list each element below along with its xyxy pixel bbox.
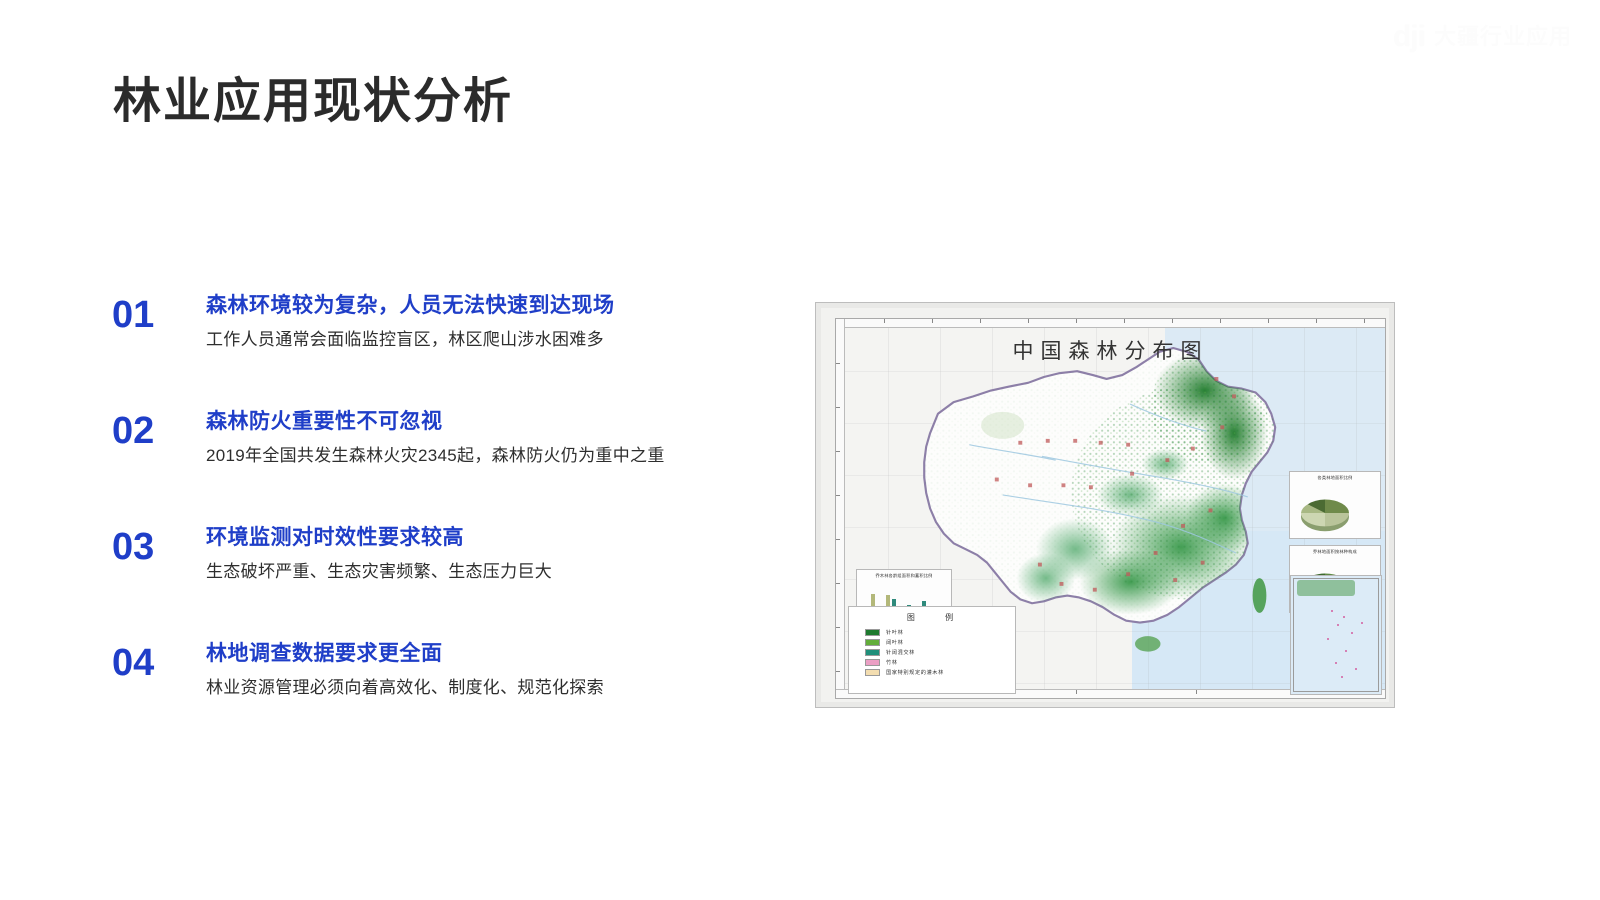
item-heading: 森林环境较为复杂，人员无法快速到达现场 (206, 292, 792, 319)
item-subtext: 工作人员通常会面临监控盲区，林区爬山涉水困难多 (206, 329, 792, 352)
bar-inset-title: 乔木林各龄组面积和蓄积比例 (857, 570, 951, 578)
legend-row: 阔叶林 (849, 637, 1015, 647)
taiwan-island (1253, 578, 1267, 613)
map-ruler-left (836, 319, 845, 698)
item-heading: 环境监测对时效性要求较高 (206, 524, 792, 551)
legend-swatch (865, 649, 880, 656)
points-list: 01 森林环境较为复杂，人员无法快速到达现场 工作人员通常会面临监控盲区，林区爬… (112, 292, 792, 712)
legend-label: 针叶林 (886, 629, 903, 636)
legend-label: 针阔混交林 (886, 649, 915, 656)
map-frame: 中国森林分布图 (835, 318, 1386, 699)
item-subtext: 林业资源管理必须向着高效化、制度化、规范化探索 (206, 677, 792, 700)
item-body: 森林防火重要性不可忽视 2019年全国共发生森林火灾2345起，森林防火仍为重中… (206, 408, 792, 468)
item-number: 02 (112, 412, 188, 450)
item-number: 01 (112, 296, 188, 334)
item-number: 03 (112, 528, 188, 566)
forest-distribution-map: 中国森林分布图 (815, 302, 1395, 708)
item-number: 04 (112, 644, 188, 682)
list-item: 03 环境监测对时效性要求较高 生态破坏严重、生态灾害频繁、生态压力巨大 (112, 524, 792, 596)
item-body: 林地调查数据要求更全面 林业资源管理必须向着高效化、制度化、规范化探索 (206, 640, 792, 700)
map-title: 中国森林分布图 (836, 335, 1385, 365)
legend-swatch (865, 629, 880, 636)
legend-swatch (865, 659, 880, 666)
pie-chart-inset-1: 各类林地面积比例 (1289, 471, 1381, 539)
list-item: 04 林地调查数据要求更全面 林业资源管理必须向着高效化、制度化、规范化探索 (112, 640, 792, 712)
map-ruler-top (836, 319, 1385, 328)
map-inner: 中国森林分布图 (821, 308, 1389, 702)
pie-1 (1296, 488, 1354, 536)
legend-row: 国家特别规定的灌木林 (849, 667, 1015, 677)
scs-mainland-strip (1297, 580, 1355, 596)
item-heading: 森林防火重要性不可忽视 (206, 408, 792, 435)
page-title: 林业应用现状分析 (113, 74, 513, 129)
dji-logo-icon: dji (1393, 22, 1425, 52)
item-subtext: 2019年全国共发生森林火灾2345起，森林防火仍为重中之重 (206, 445, 792, 468)
list-item: 01 森林环境较为复杂，人员无法快速到达现场 工作人员通常会面临监控盲区，林区爬… (112, 292, 792, 364)
legend-label: 阔叶林 (886, 639, 903, 646)
item-subtext: 生态破坏严重、生态灾害频繁、生态压力巨大 (206, 561, 792, 584)
legend-row: 针叶林 (849, 627, 1015, 637)
pie-inset-1-title: 各类林地面积比例 (1290, 472, 1380, 480)
hainan-island (1135, 636, 1160, 651)
south-china-sea-inset (1290, 575, 1382, 695)
legend-swatch (865, 639, 880, 646)
legend-row: 竹林 (849, 657, 1015, 667)
pie-inset-2-title: 乔林地面积按林种构成 (1290, 546, 1380, 554)
legend-swatch (865, 669, 880, 676)
legend-label: 竹林 (886, 659, 898, 666)
legend-title: 图 例 (849, 607, 1015, 627)
item-body: 森林环境较为复杂，人员无法快速到达现场 工作人员通常会面临监控盲区，林区爬山涉水… (206, 292, 792, 352)
item-body: 环境监测对时效性要求较高 生态破坏严重、生态灾害频繁、生态压力巨大 (206, 524, 792, 584)
list-item: 02 森林防火重要性不可忽视 2019年全国共发生森林火灾2345起，森林防火仍… (112, 408, 792, 480)
watermark-text: 大疆行业应用 (1434, 26, 1572, 48)
legend-row: 针阔混交林 (849, 647, 1015, 657)
map-legend: 图 例 针叶林 阔叶林 针阔混交林 竹林 (848, 606, 1016, 694)
item-heading: 林地调查数据要求更全面 (206, 640, 792, 667)
legend-label: 国家特别规定的灌木林 (886, 669, 944, 676)
slide-root: dji 大疆行业应用 林业应用现状分析 01 森林环境较为复杂，人员无法快速到达… (0, 0, 1600, 900)
watermark: dji 大疆行业应用 (1393, 22, 1572, 52)
